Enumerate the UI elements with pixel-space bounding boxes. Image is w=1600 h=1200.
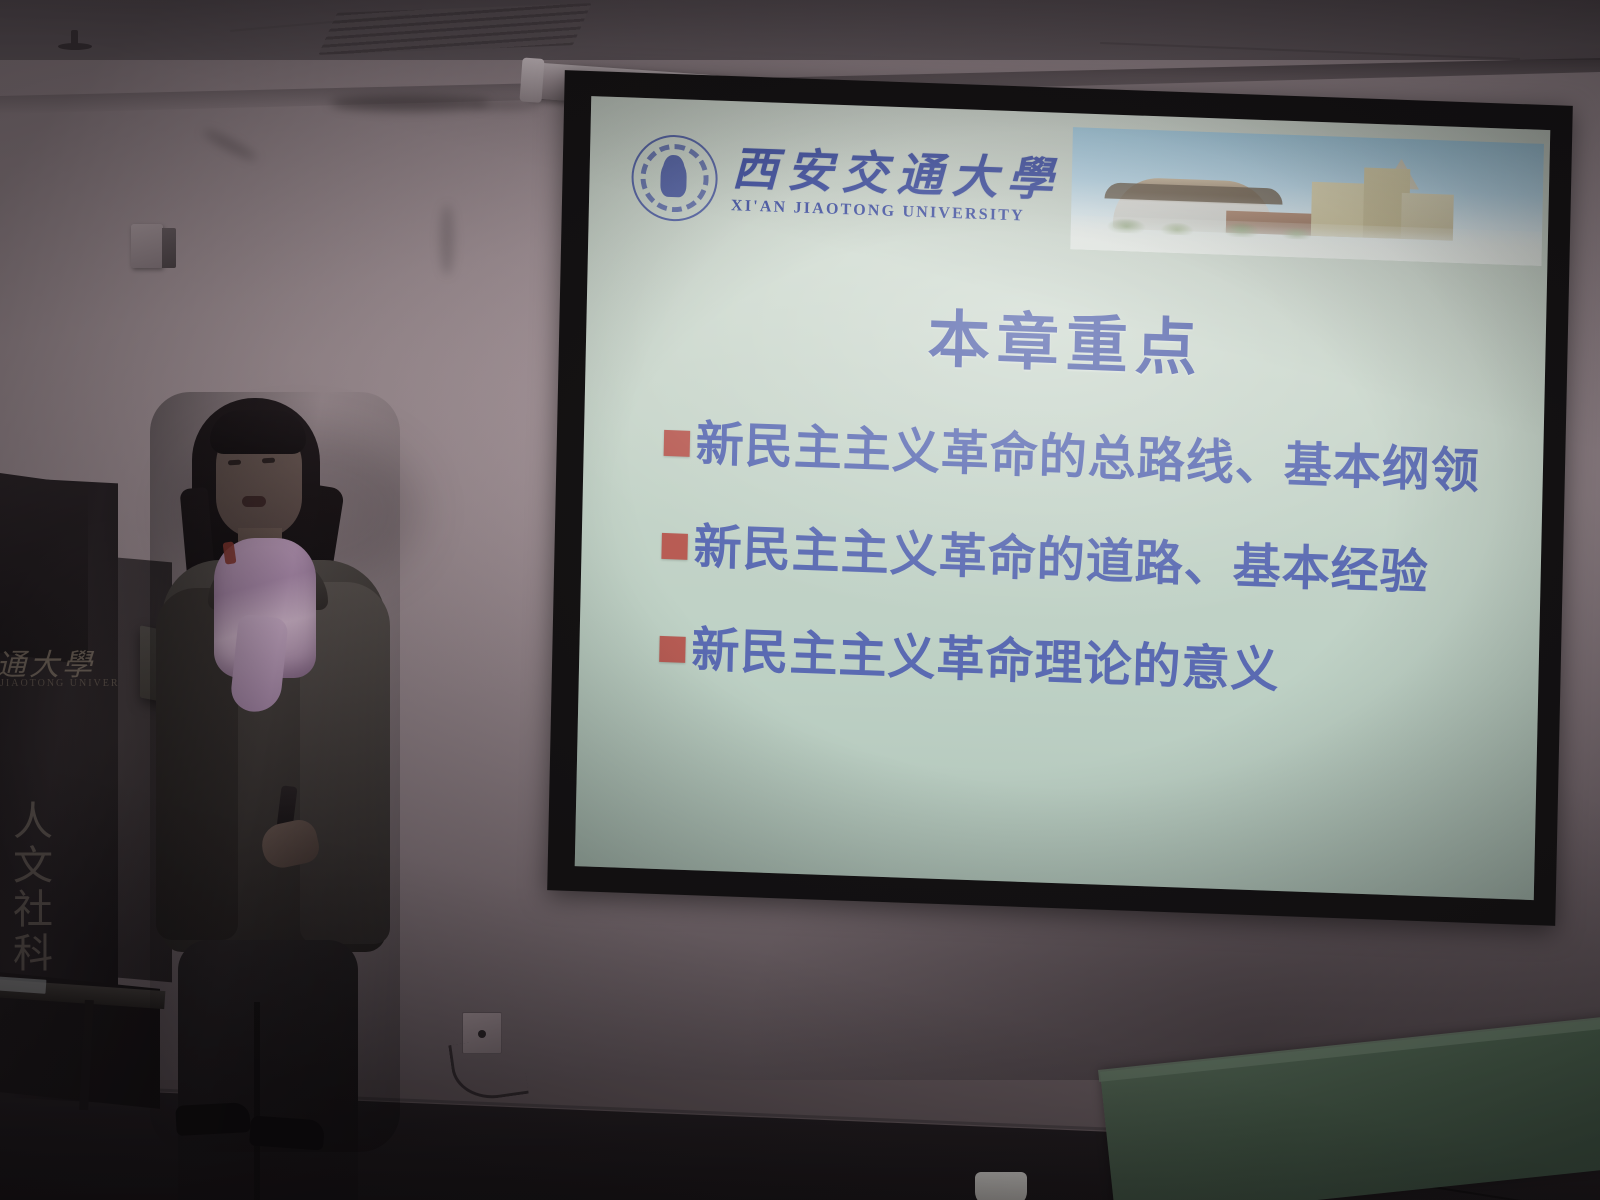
university-brand: 西安交通大學 XI'AN JIAOTONG UNIVERSITY bbox=[589, 110, 1063, 235]
campus-tower-c bbox=[1401, 193, 1454, 241]
projection-screen-frame: 西安交通大學 XI'AN JIAOTONG UNIVERSITY 本章重点 bbox=[547, 70, 1573, 926]
white-cup bbox=[975, 1172, 1027, 1200]
eye-left bbox=[228, 460, 241, 466]
outlet-hole bbox=[478, 1030, 486, 1038]
trousers bbox=[178, 940, 358, 1200]
trouser-seam bbox=[254, 1002, 260, 1200]
shoe-left bbox=[175, 1102, 250, 1136]
campus-panorama-image bbox=[1070, 127, 1544, 266]
wall-scuff bbox=[440, 205, 454, 275]
slide-header: 西安交通大學 XI'AN JIAOTONG UNIVERSITY bbox=[588, 110, 1550, 270]
slide-title: 本章重点 bbox=[585, 276, 1546, 400]
bullet-square-icon bbox=[661, 533, 688, 560]
list-item: 新民主主义革命理论的意义 bbox=[659, 623, 1499, 706]
sprinkler-head-icon bbox=[58, 30, 92, 56]
mouth bbox=[242, 496, 266, 507]
bullet-text: 新民主主义革命的总路线、基本纲领 bbox=[695, 418, 1480, 499]
eye-right bbox=[262, 458, 275, 464]
arena-building bbox=[1113, 177, 1274, 235]
brand-text: 西安交通大學 XI'AN JIAOTONG UNIVERSITY bbox=[731, 145, 1063, 227]
university-name-cn: 西安交通大學 bbox=[731, 145, 1062, 203]
bullet-square-icon bbox=[664, 430, 691, 457]
lectern-upper-panel bbox=[0, 471, 88, 666]
slide-bullet-list: 新民主主义革命的总路线、基本纲领 新民主主义革命的道路、基本经验 新民主主义革命… bbox=[658, 417, 1504, 755]
presenter bbox=[150, 392, 400, 1152]
university-seal-icon bbox=[631, 134, 719, 223]
lecture-hall-scene: 西安交通大學 XI'AN JIAOTONG UNIVERSITY 本章重点 bbox=[0, 0, 1600, 1200]
bullet-text: 新民主主义革命的道路、基本经验 bbox=[693, 521, 1429, 600]
bullet-text: 新民主主义革命理论的意义 bbox=[691, 624, 1280, 698]
panorama-fade bbox=[1070, 215, 1542, 266]
roller-end-cap bbox=[519, 57, 544, 102]
wall-speaker-icon bbox=[131, 224, 163, 268]
wall-speaker-bracket bbox=[162, 228, 176, 268]
list-item: 新民主主义革命的总路线、基本纲领 bbox=[663, 417, 1503, 500]
bullet-square-icon bbox=[659, 636, 686, 663]
power-cable bbox=[448, 1035, 529, 1104]
projection-screen-surface: 西安交通大學 XI'AN JIAOTONG UNIVERSITY 本章重点 bbox=[575, 96, 1551, 900]
wall-smudge bbox=[330, 95, 490, 111]
lectern-department-label: 人文社科 bbox=[6, 800, 50, 976]
paper-sheet bbox=[0, 976, 46, 994]
shoe-right bbox=[249, 1115, 325, 1150]
hair-fringe bbox=[210, 410, 306, 454]
list-item: 新民主主义革命的道路、基本经验 bbox=[661, 520, 1501, 603]
